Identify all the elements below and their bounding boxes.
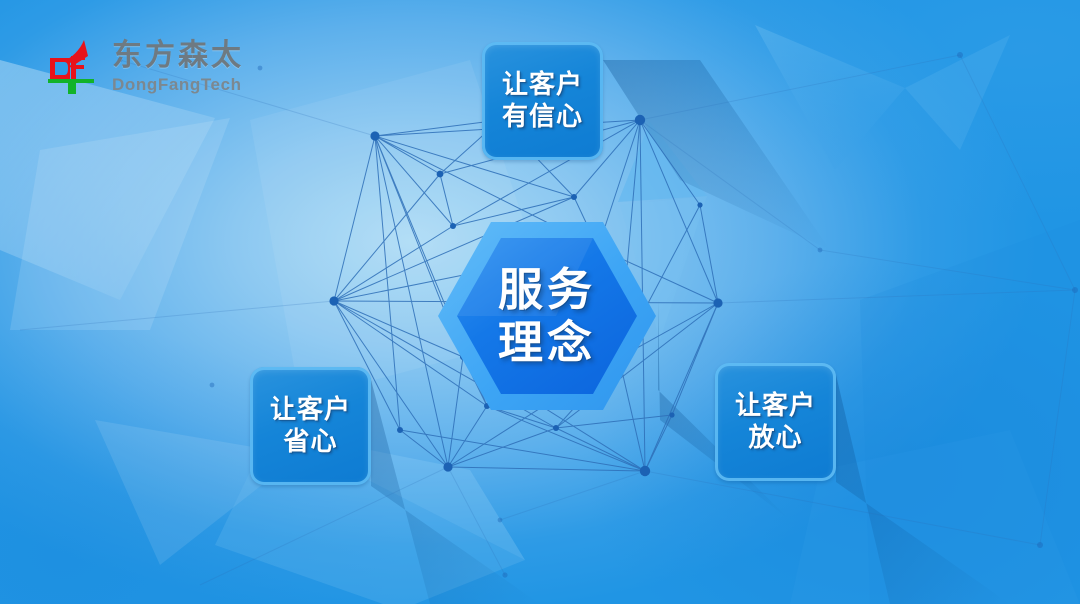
network-node-far <box>1037 542 1043 548</box>
network-node <box>370 131 379 140</box>
logo-english-name: DongFangTech <box>112 76 244 93</box>
network-node <box>329 296 338 305</box>
slide-canvas: 东方森太 DongFangTech 让客户 有信心 让客户 省心 让客户 放心 <box>0 0 1080 604</box>
network-node <box>635 115 645 125</box>
network-node <box>713 298 722 307</box>
brand-logo[interactable]: 东方森太 DongFangTech <box>40 38 244 96</box>
network-node-far <box>258 66 263 71</box>
center-hexagon-shape <box>436 220 658 412</box>
network-node-far <box>957 52 963 58</box>
network-node <box>697 202 702 207</box>
satellite-card-top[interactable]: 让客户 有信心 <box>482 42 603 160</box>
network-node <box>669 412 674 417</box>
network-node <box>571 194 577 200</box>
network-node-far <box>818 248 823 253</box>
network-node-far <box>1072 287 1078 293</box>
satellite-card-left-label: 让客户 省心 <box>270 394 351 457</box>
network-node-far <box>210 383 215 388</box>
logo-text-block: 东方森太 DongFangTech <box>112 41 244 93</box>
network-node-far <box>498 518 503 523</box>
satellite-card-right-label: 让客户 放心 <box>735 390 816 453</box>
network-node <box>397 427 403 433</box>
network-node <box>443 462 452 471</box>
network-node <box>437 171 444 178</box>
satellite-card-top-label: 让客户 有信心 <box>502 69 583 132</box>
network-node <box>553 425 559 431</box>
satellite-card-right[interactable]: 让客户 放心 <box>715 363 836 481</box>
network-node-far <box>502 572 507 577</box>
satellite-card-left[interactable]: 让客户 省心 <box>250 367 371 485</box>
network-node <box>640 466 650 476</box>
center-hexagon[interactable]: 服务 理念 <box>436 220 658 412</box>
logo-chinese-name: 东方森太 <box>112 41 244 71</box>
dongfangtech-wing-icon <box>40 38 102 96</box>
